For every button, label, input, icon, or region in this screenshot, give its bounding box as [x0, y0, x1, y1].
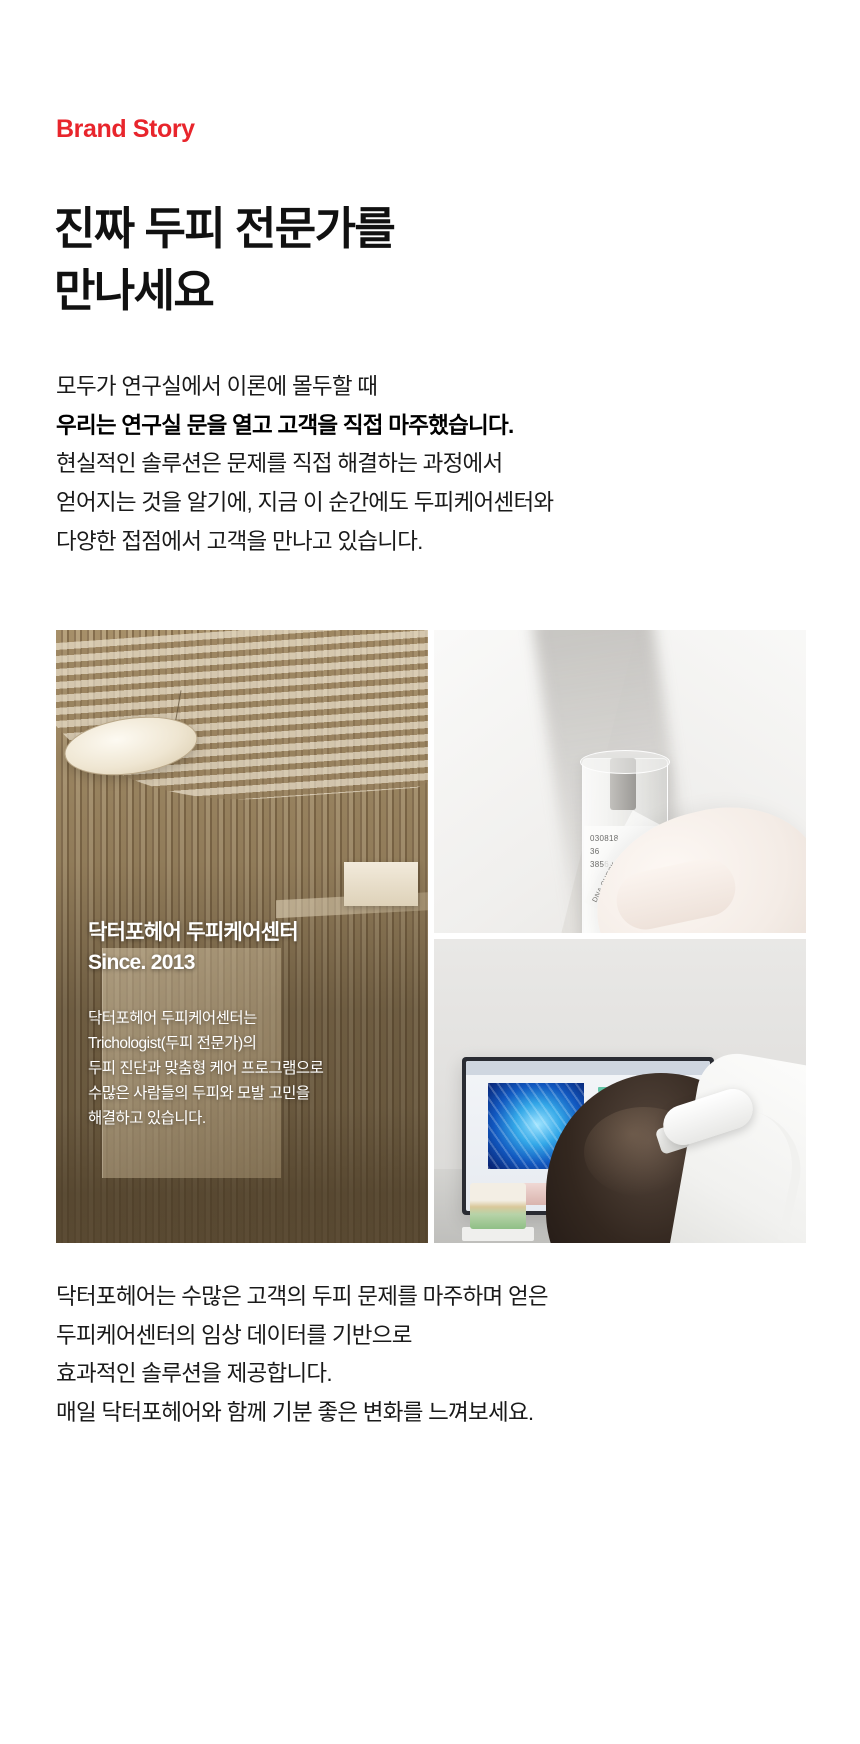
scalp-diagnosis-photo	[434, 939, 806, 1243]
clinic-caption-line-3: 두피 진단과 맞춤형 케어 프로그램으로	[88, 1056, 410, 1081]
scalp-model-base	[462, 1227, 534, 1241]
intro-line-1: 모두가 연구실에서 이론에 몰두할 때	[56, 368, 816, 407]
brand-story-page: Brand Story 진짜 두피 전문가를 만나세요 모두가 연구실에서 이론…	[0, 0, 860, 1744]
reception-paper-box	[344, 862, 418, 906]
sample-bottle-rim	[580, 750, 670, 774]
clinic-caption-body: 닥터포헤어 두피케어센터는 Trichologist(두피 전문가)의 두피 진…	[88, 1006, 410, 1132]
clinic-caption-line-4: 수많은 사람들의 두피와 모발 고민을	[88, 1081, 410, 1106]
clinic-caption-line-2: Trichologist(두피 전문가)의	[88, 1031, 410, 1056]
right-photo-column: 030818 36 3856 DNA CHECK 두피·모발 검사	[434, 630, 806, 1243]
page-title: 진짜 두피 전문가를 만나세요	[54, 198, 394, 322]
intro-line-5: 다양한 접점에서 고객을 만나고 있습니다.	[56, 523, 816, 562]
intro-line-4: 얻어지는 것을 알기에, 지금 이 순간에도 두피케어센터와	[56, 484, 816, 523]
closing-paragraph: 닥터포헤어는 수많은 고객의 두피 문제를 마주하며 얻은 두피케어센터의 임상…	[56, 1278, 826, 1433]
scalp-cross-section-model	[470, 1183, 526, 1229]
clinic-photo-caption: 닥터포헤어 두피케어센터 Since. 2013 닥터포헤어 두피케어센터는 T…	[88, 918, 410, 1131]
clinic-interior-photo: 닥터포헤어 두피케어센터 Since. 2013 닥터포헤어 두피케어센터는 T…	[56, 630, 428, 1243]
intro-line-2-emphasis: 우리는 연구실 문을 열고 고객을 직접 마주했습니다.	[56, 407, 816, 446]
closing-line-1: 닥터포헤어는 수많은 고객의 두피 문제를 마주하며 얻은	[56, 1278, 826, 1317]
closing-line-4: 매일 닥터포헤어와 함께 기분 좋은 변화를 느껴보세요.	[56, 1394, 826, 1433]
intro-line-3: 현실적인 솔루션은 문제를 직접 해결하는 과정에서	[56, 445, 816, 484]
clinic-caption-title: 닥터포헤어 두피케어센터 Since. 2013	[88, 918, 410, 978]
section-eyebrow-label: Brand Story	[56, 116, 195, 144]
clinic-caption-line-1: 닥터포헤어 두피케어센터는	[88, 1006, 410, 1031]
intro-paragraph: 모두가 연구실에서 이론에 몰두할 때 우리는 연구실 문을 열고 고객을 직접…	[56, 368, 816, 561]
closing-line-2: 두피케어센터의 임상 데이터를 기반으로	[56, 1317, 826, 1356]
lab-sample-photo: 030818 36 3856 DNA CHECK 두피·모발 검사	[434, 630, 806, 933]
photo-gallery: 닥터포헤어 두피케어센터 Since. 2013 닥터포헤어 두피케어센터는 T…	[56, 630, 806, 1243]
clinic-caption-line-5: 해결하고 있습니다.	[88, 1106, 410, 1131]
closing-line-3: 효과적인 솔루션을 제공합니다.	[56, 1355, 826, 1394]
